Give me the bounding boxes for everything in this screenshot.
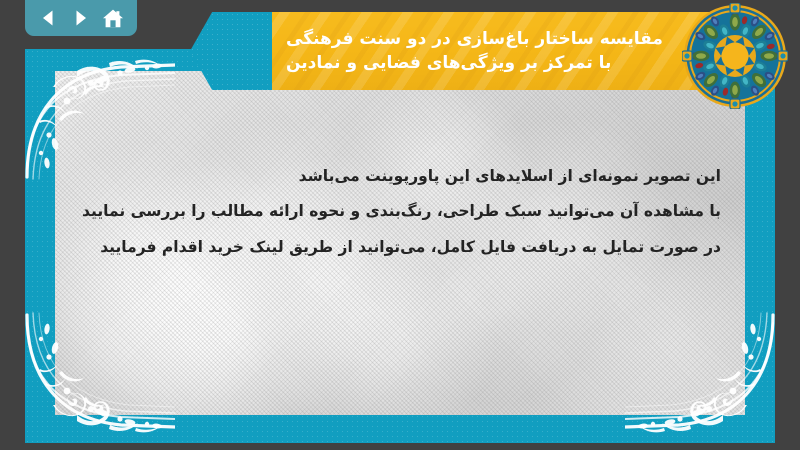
triangle-right-icon — [71, 8, 91, 28]
body-line-2: با مشاهده آن می‌توانید سبک طراحی، رنگ‌بن… — [91, 194, 721, 229]
back-button[interactable] — [35, 5, 61, 31]
body-line-3: در صورت تمایل به دریافت فایل کامل، می‌تو… — [91, 230, 721, 265]
home-icon — [102, 8, 124, 29]
title-line-2: با تمرکز بر ویژگی‌های فضایی و نمادین — [286, 51, 611, 75]
navigation-bar — [25, 0, 137, 36]
slide-viewer-window: این تصویر نمونه‌ای از اسلایدهای این پاور… — [0, 0, 800, 450]
banner-pennant-shape — [190, 12, 272, 90]
triangle-left-icon — [38, 8, 58, 28]
body-line-1: این تصویر نمونه‌ای از اسلایدهای این پاور… — [91, 159, 721, 194]
slide-canvas: این تصویر نمونه‌ای از اسلایدهای این پاور… — [55, 71, 745, 415]
slide-frame: این تصویر نمونه‌ای از اسلایدهای این پاور… — [25, 49, 775, 443]
slide-body-text: این تصویر نمونه‌ای از اسلایدهای این پاور… — [91, 159, 721, 265]
persian-mandala-medallion-icon — [682, 3, 788, 109]
banner-title-body: مقایسه ساختار باغ‌سازی در دو سنت فرهنگی … — [272, 12, 730, 90]
slide-title-banner: مقایسه ساختار باغ‌سازی در دو سنت فرهنگی … — [190, 12, 730, 90]
home-button[interactable] — [100, 5, 126, 31]
title-line-1: مقایسه ساختار باغ‌سازی در دو سنت فرهنگی — [286, 27, 663, 51]
forward-button[interactable] — [68, 5, 94, 31]
